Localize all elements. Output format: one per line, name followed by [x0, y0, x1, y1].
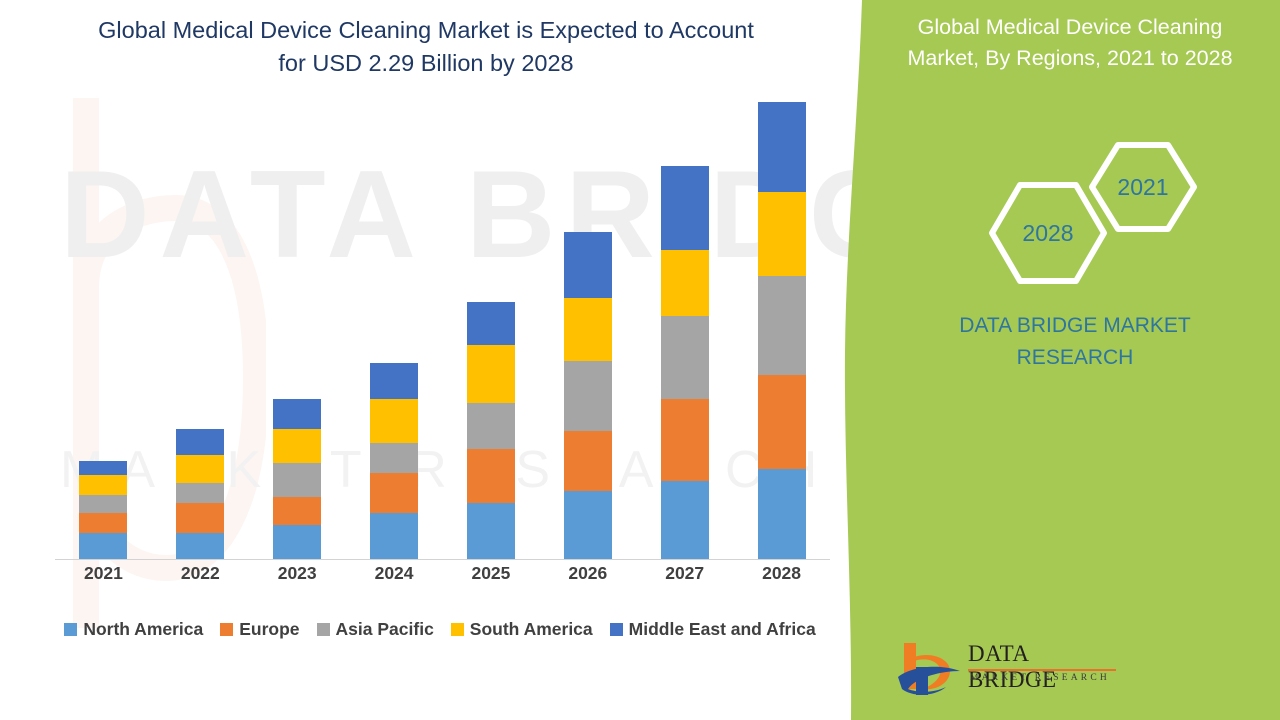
legend-swatch-icon [317, 623, 330, 636]
x-axis-line [55, 559, 830, 560]
legend-swatch-icon [451, 623, 464, 636]
bar-segment-europe[interactable] [564, 431, 612, 491]
bar-segment-south-america[interactable] [79, 475, 127, 495]
bar-segment-asia-pacific[interactable] [758, 276, 806, 376]
logo-mark-icon [894, 637, 966, 701]
bar-segment-europe[interactable] [176, 503, 224, 533]
bar-segment-north-america[interactable] [564, 491, 612, 559]
legend-item-north-america[interactable]: North America [64, 619, 203, 640]
bar-segment-middle-east-and-africa[interactable] [370, 363, 418, 399]
bar-segment-middle-east-and-africa[interactable] [273, 399, 321, 429]
legend-item-asia-pacific[interactable]: Asia Pacific [317, 619, 434, 640]
legend-label: Asia Pacific [336, 619, 434, 640]
bar-segment-south-america[interactable] [661, 250, 709, 316]
bar-segment-europe[interactable] [370, 473, 418, 513]
legend-item-south-america[interactable]: South America [451, 619, 593, 640]
x-axis-label-2028: 2028 [734, 563, 830, 593]
hexagon-2028: 2028 [992, 185, 1104, 281]
chart-title: Global Medical Device Cleaning Market is… [46, 14, 806, 81]
bar-segment-north-america[interactable] [370, 513, 418, 559]
x-axis-labels: 20212022202320242025202620272028 [55, 563, 830, 593]
bar-group [55, 90, 830, 559]
logo-divider [968, 669, 1116, 671]
bar-segment-south-america[interactable] [467, 345, 515, 403]
hexagon-2021-label: 2021 [1117, 174, 1168, 200]
x-axis-label-2026: 2026 [540, 563, 636, 593]
stacked-bar[interactable] [273, 399, 321, 559]
stacked-bar[interactable] [467, 302, 515, 559]
panel-title-line-2: Market, By Regions, 2021 to 2028 [870, 43, 1270, 74]
x-axis-label-2021: 2021 [55, 563, 151, 593]
x-axis-label-2022: 2022 [152, 563, 248, 593]
legend-item-europe[interactable]: Europe [220, 619, 299, 640]
legend-label: South America [470, 619, 593, 640]
bar-segment-asia-pacific[interactable] [564, 361, 612, 431]
legend-label: Middle East and Africa [629, 619, 816, 640]
bar-column-2028 [734, 102, 830, 559]
bar-segment-north-america[interactable] [79, 533, 127, 559]
bar-segment-north-america[interactable] [176, 533, 224, 559]
bar-segment-middle-east-and-africa[interactable] [176, 429, 224, 455]
hexagon-2021: 2021 [1092, 145, 1194, 229]
bar-segment-europe[interactable] [79, 513, 127, 533]
bar-column-2026 [540, 232, 636, 559]
legend-label: Europe [239, 619, 299, 640]
stacked-bar[interactable] [564, 232, 612, 559]
bar-segment-middle-east-and-africa[interactable] [467, 302, 515, 346]
bar-segment-middle-east-and-africa[interactable] [661, 166, 709, 250]
bar-segment-asia-pacific[interactable] [661, 316, 709, 400]
bar-column-2025 [443, 302, 539, 559]
bar-column-2021 [55, 461, 151, 559]
hexagon-pair-svg: 2021 2028 [880, 135, 1280, 285]
slide-canvas: DATA BRIDGE MARKET RESEARCH Global Medic… [0, 0, 1280, 720]
legend-swatch-icon [610, 623, 623, 636]
brand-name-line-2: RESEARCH [875, 342, 1275, 374]
bar-segment-north-america[interactable] [467, 503, 515, 559]
bar-column-2024 [346, 363, 442, 559]
hexagon-2028-label: 2028 [1022, 220, 1073, 246]
chart-title-line-1: Global Medical Device Cleaning Market is… [46, 14, 806, 47]
bar-segment-south-america[interactable] [176, 455, 224, 483]
stacked-bar[interactable] [370, 363, 418, 559]
bar-column-2027 [637, 166, 733, 559]
bar-segment-north-america[interactable] [758, 469, 806, 559]
bar-segment-middle-east-and-africa[interactable] [758, 102, 806, 192]
bar-segment-middle-east-and-africa[interactable] [79, 461, 127, 475]
legend-swatch-icon [220, 623, 233, 636]
bar-segment-europe[interactable] [467, 449, 515, 503]
hexagon-graphic: 2021 2028 [880, 135, 1280, 285]
bar-segment-europe[interactable] [758, 375, 806, 469]
logo-tagline: MARKET RESEARCH [970, 673, 1110, 683]
bar-segment-asia-pacific[interactable] [176, 483, 224, 503]
bar-segment-north-america[interactable] [273, 525, 321, 559]
bar-segment-asia-pacific[interactable] [273, 463, 321, 497]
bar-segment-north-america[interactable] [661, 481, 709, 559]
stacked-bar[interactable] [79, 461, 127, 559]
panel-title: Global Medical Device Cleaning Market, B… [870, 12, 1270, 74]
stacked-bar[interactable] [176, 429, 224, 559]
company-logo: DATA BRIDGE MARKET RESEARCH [890, 635, 1120, 705]
legend-swatch-icon [64, 623, 77, 636]
stacked-bar[interactable] [661, 166, 709, 559]
x-axis-label-2027: 2027 [637, 563, 733, 593]
bar-column-2023 [249, 399, 345, 559]
chart-title-line-2: for USD 2.29 Billion by 2028 [46, 47, 806, 80]
brand-name: DATA BRIDGE MARKET RESEARCH [875, 310, 1275, 373]
chart-legend: North AmericaEuropeAsia PacificSouth Ame… [45, 616, 835, 642]
bar-segment-south-america[interactable] [370, 399, 418, 443]
bar-segment-asia-pacific[interactable] [79, 495, 127, 513]
x-axis-label-2023: 2023 [249, 563, 345, 593]
legend-item-middle-east-and-africa[interactable]: Middle East and Africa [610, 619, 816, 640]
logo-wordmark: DATA BRIDGE [968, 641, 1120, 693]
x-axis-label-2025: 2025 [443, 563, 539, 593]
chart-plot-area [55, 90, 830, 560]
green-panel-content: Global Medical Device Cleaning Market, B… [880, 0, 1280, 720]
bar-column-2022 [152, 429, 248, 559]
bar-segment-south-america[interactable] [564, 298, 612, 362]
brand-name-line-1: DATA BRIDGE MARKET [875, 310, 1275, 342]
x-axis-label-2024: 2024 [346, 563, 442, 593]
bar-segment-asia-pacific[interactable] [467, 403, 515, 449]
bar-segment-europe[interactable] [273, 497, 321, 525]
bar-segment-middle-east-and-africa[interactable] [564, 232, 612, 298]
bar-segment-europe[interactable] [661, 399, 709, 481]
legend-label: North America [83, 619, 203, 640]
bar-segment-south-america[interactable] [758, 192, 806, 276]
stacked-bar[interactable] [758, 102, 806, 559]
bar-segment-asia-pacific[interactable] [370, 443, 418, 473]
bar-segment-south-america[interactable] [273, 429, 321, 463]
panel-title-line-1: Global Medical Device Cleaning [870, 12, 1270, 43]
